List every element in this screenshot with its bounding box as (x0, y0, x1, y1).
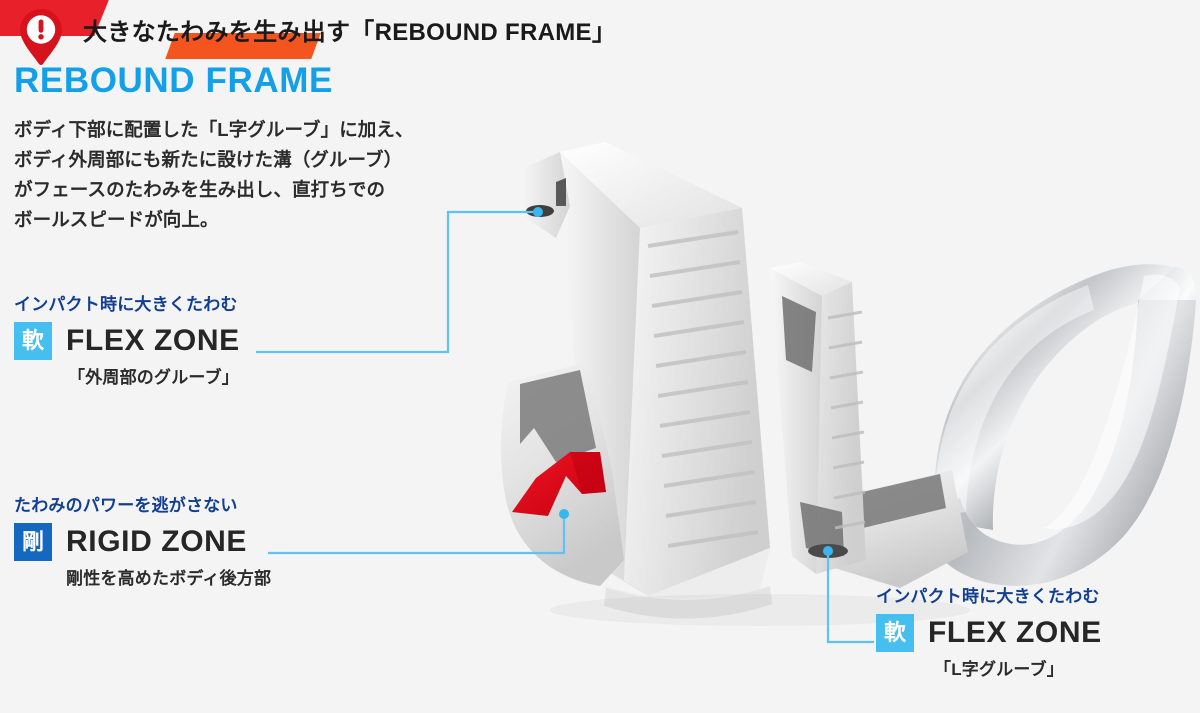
callout-flex-zone-bottom: インパクト時に大きくたわむ 軟 FLEX ZONE 「L字グルーブ」 (876, 588, 1102, 678)
leader-rigid (268, 516, 564, 553)
leader-flex-bottom (828, 553, 874, 642)
zone-name: FLEX ZONE (928, 618, 1102, 648)
zone-row: 軟 FLEX ZONE (14, 322, 240, 360)
zone-name: RIGID ZONE (66, 527, 247, 557)
callout-subnote: 剛性を高めたボディ後方部 (66, 570, 271, 587)
leader-dot-flex-top (533, 207, 543, 217)
zone-row: 剛 RIGID ZONE (14, 523, 271, 561)
leader-dot-flex-bottom (823, 546, 833, 556)
callout-subnote: 「外周部のグルーブ」 (68, 369, 240, 386)
callout-subnote: 「L字グルーブ」 (934, 661, 1102, 678)
callout-kicker: たわみのパワーを逃がさない (14, 497, 271, 514)
callout-kicker: インパクト時に大きくたわむ (14, 296, 240, 313)
callout-kicker: インパクト時に大きくたわむ (876, 588, 1102, 605)
badge-soft: 軟 (876, 614, 914, 652)
rebound-frame-infographic: 大きなたわみを生み出す「REBOUND FRAME」 REBOUND FRAME… (0, 0, 1200, 713)
callout-rigid-zone: たわみのパワーを逃がさない 剛 RIGID ZONE 剛性を高めたボディ後方部 (14, 497, 271, 587)
badge-rigid: 剛 (14, 523, 52, 561)
leader-flex-top (256, 212, 536, 352)
zone-name: FLEX ZONE (66, 326, 240, 356)
callout-flex-zone-top: インパクト時に大きくたわむ 軟 FLEX ZONE 「外周部のグルーブ」 (14, 296, 240, 386)
zone-row: 軟 FLEX ZONE (876, 614, 1102, 652)
leader-dot-rigid (559, 509, 569, 519)
badge-soft: 軟 (14, 322, 52, 360)
